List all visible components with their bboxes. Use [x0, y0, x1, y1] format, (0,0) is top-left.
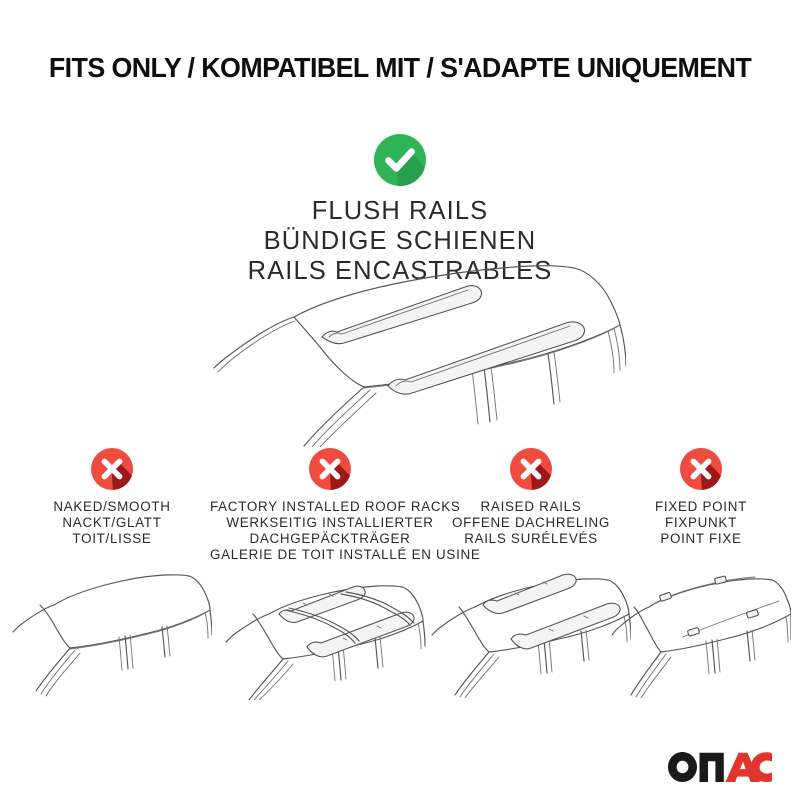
label-line-de-2: DACHGEPÄCKTRÄGER	[210, 531, 450, 547]
car-roof-factory-racks-illustration	[225, 570, 435, 705]
label-line-de: NACKT/GLATT	[0, 515, 224, 531]
label-line-en: FIXED POINT	[608, 499, 794, 515]
label-line-en: NAKED/SMOOTH	[0, 499, 224, 515]
label-line-en: RAISED RAILS	[428, 499, 634, 515]
x-circle-icon	[309, 448, 351, 490]
label-line-fr: POINT FIXE	[608, 531, 794, 547]
incompatible-labels-naked-smooth: NAKED/SMOOTH NACKT/GLATT TOIT/LISSE	[0, 499, 224, 547]
incompatible-section: NAKED/SMOOTH NACKT/GLATT TOIT/LISSE	[0, 448, 800, 708]
incompatible-column-naked-smooth: NAKED/SMOOTH NACKT/GLATT TOIT/LISSE	[0, 448, 224, 547]
incompatible-labels-factory-racks: FACTORY INSTALLED ROOF RACKS WERKSEITIG …	[210, 499, 450, 563]
car-roof-flush-rails-illustration	[196, 262, 626, 447]
x-circle-icon	[680, 448, 722, 490]
car-roof-naked-smooth-illustration	[12, 553, 212, 703]
label-line-fr: RAILS SURÉLEVÉS	[428, 531, 634, 547]
incompatible-column-factory-racks: FACTORY INSTALLED ROOF RACKS WERKSEITIG …	[210, 448, 450, 563]
label-line-en: FACTORY INSTALLED ROOF RACKS	[210, 499, 450, 515]
compatible-label-en: FLUSH RAILS	[0, 197, 800, 227]
compatible-label-de: BÜNDIGE SCHIENEN	[0, 227, 800, 257]
x-circle-icon	[510, 448, 552, 490]
page-title: FITS ONLY / KOMPATIBEL MIT / S'ADAPTE UN…	[10, 52, 790, 84]
car-roof-fixed-point-illustration	[611, 553, 791, 703]
incompatible-labels-fixed-point: FIXED POINT FIXPUNKT POINT FIXE	[608, 499, 794, 547]
label-line-fr: GALERIE DE TOIT INSTALLÉ EN USINE	[210, 547, 450, 563]
check-circle-icon	[374, 134, 426, 186]
x-circle-icon	[91, 448, 133, 490]
car-roof-raised-rails-illustration	[431, 553, 631, 703]
label-line-de: OFFENE DACHRELING	[428, 515, 634, 531]
incompatible-labels-raised-rails: RAISED RAILS OFFENE DACHRELING RAILS SUR…	[428, 499, 634, 547]
incompatible-column-fixed-point: FIXED POINT FIXPUNKT POINT FIXE	[608, 448, 794, 547]
label-line-de: FIXPUNKT	[608, 515, 794, 531]
incompatible-column-raised-rails: RAISED RAILS OFFENE DACHRELING RAILS SUR…	[428, 448, 634, 547]
header: FITS ONLY / KOMPATIBEL MIT / S'ADAPTE UN…	[0, 52, 800, 84]
omac-logo	[668, 752, 772, 782]
label-line-fr: TOIT/LISSE	[0, 531, 224, 547]
label-line-de-1: WERKSEITIG INSTALLIERTER	[210, 515, 450, 531]
